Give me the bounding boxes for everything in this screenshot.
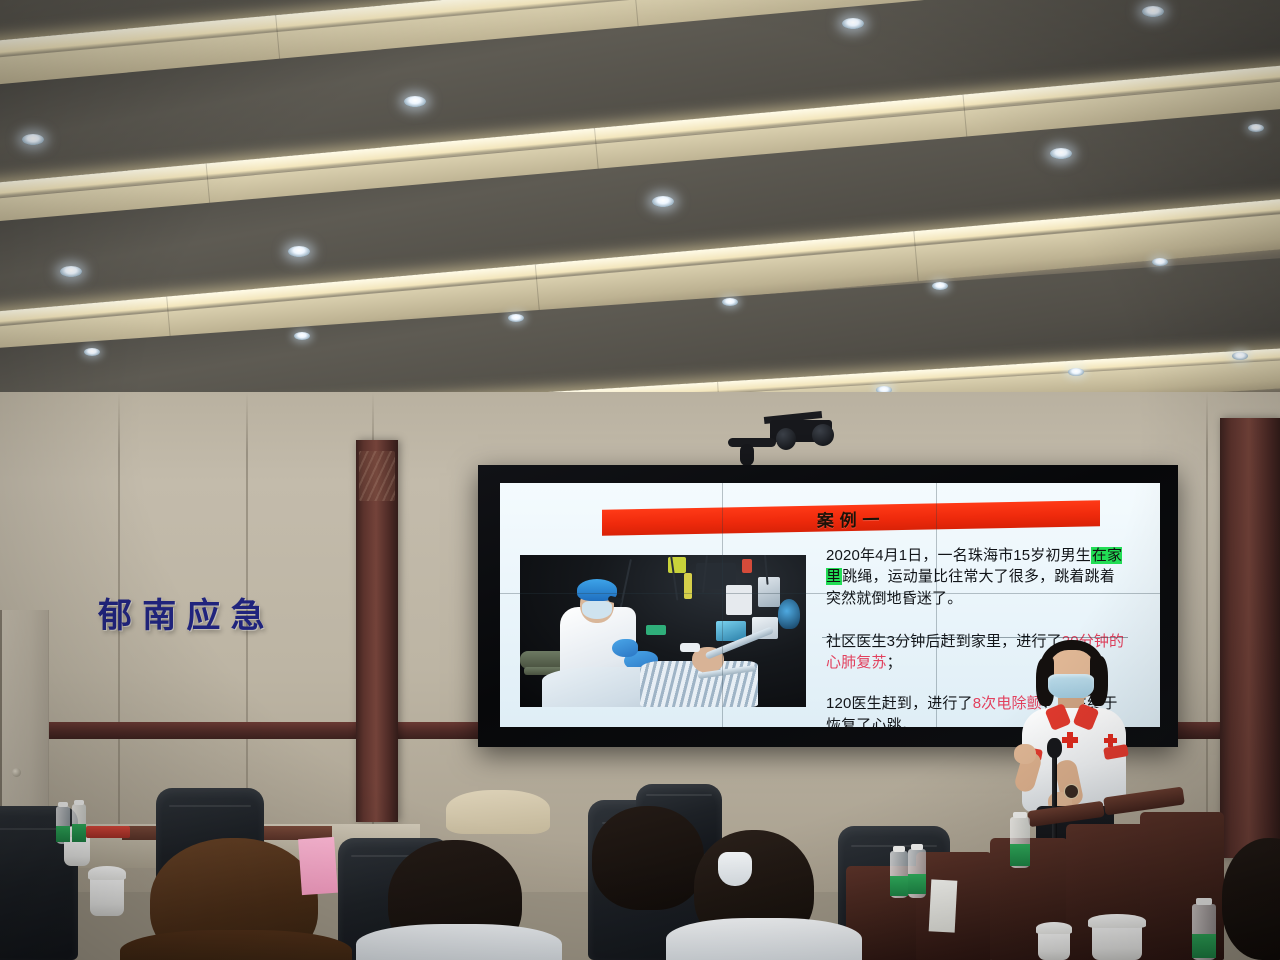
- ceiling-projector-rig: [718, 414, 838, 464]
- downlight: [1248, 124, 1264, 132]
- downlight: [842, 18, 864, 29]
- p1-run-2: 初男生: [1045, 547, 1090, 564]
- downlight: [722, 298, 738, 306]
- photo-doctor-glove: [612, 639, 638, 657]
- downlight: [1232, 352, 1248, 360]
- led-panel-seam: [722, 483, 723, 727]
- audience-member-head: [592, 806, 704, 910]
- downlight: [652, 196, 674, 207]
- teacup-lid[interactable]: [1036, 922, 1072, 934]
- pilaster-carving: [359, 451, 394, 501]
- teacup-lid[interactable]: [1088, 914, 1146, 928]
- downlight: [294, 332, 310, 340]
- rig-camera-body: [740, 444, 754, 466]
- p1-run-4: 跳绳，运动量比往常大了很多，跳着跳着突然就倒地昏迷了。: [826, 568, 1115, 606]
- downlight: [288, 246, 310, 257]
- wall-sign-yunan-emergency: 郁南应急: [98, 588, 275, 637]
- rig-lens-icon: [776, 428, 796, 450]
- slide-title-text: 案例一: [817, 505, 885, 531]
- p2-run-3: ；: [887, 654, 902, 671]
- downlight: [508, 314, 524, 322]
- presenter-face-mask: [1048, 674, 1094, 700]
- audience-member-shoulders: [120, 930, 352, 960]
- slide-divider-rule: [822, 637, 1128, 638]
- downlight: [1050, 148, 1072, 159]
- photo-doctor-mask: [582, 601, 612, 619]
- audience-face-mask: [718, 852, 752, 886]
- water-bottle[interactable]: [890, 846, 908, 898]
- slide-title-banner: 案例一: [602, 500, 1100, 536]
- teacup-lid[interactable]: [88, 866, 126, 880]
- microphone-head-icon[interactable]: [1047, 738, 1062, 758]
- downlight: [404, 96, 426, 107]
- water-bottle[interactable]: [72, 800, 86, 844]
- water-bottle[interactable]: [908, 844, 926, 898]
- audience-member-shoulders: [356, 924, 562, 960]
- red-cross-logo: [1062, 732, 1078, 748]
- led-panel-seam: [936, 483, 937, 727]
- white-paper-document[interactable]: [929, 879, 958, 932]
- slide-paragraph-1: 2020年4月1日，一名珠海市15岁初男生在家里跳绳，运动量比往常大了很多，跳着…: [826, 545, 1126, 609]
- wall-sign-text: 郁南应急: [98, 597, 275, 635]
- led-panel-seam: [500, 593, 1160, 594]
- downlight: [1068, 368, 1084, 376]
- downlight: [932, 282, 948, 290]
- audience-member-head: [446, 790, 550, 834]
- audience-member-shoulders: [666, 918, 862, 960]
- downlight: [22, 134, 44, 145]
- water-bottle[interactable]: [56, 802, 70, 844]
- presenter-wristwatch: [1064, 784, 1079, 799]
- wall-pilaster-right: [1220, 418, 1280, 858]
- rig-lens-icon: [812, 424, 834, 446]
- wall-pilaster-left: [356, 440, 398, 822]
- teacup[interactable]: [1038, 930, 1070, 960]
- downlight: [1152, 258, 1168, 266]
- door-knob-icon[interactable]: [12, 768, 21, 777]
- red-item-on-table: [86, 826, 130, 838]
- p3-run-1: 120医生赶到，进行了: [826, 695, 973, 712]
- downlight: [60, 266, 82, 277]
- presenter-left-hand: [1014, 744, 1036, 764]
- slide-photo-icu: [520, 555, 806, 707]
- water-bottle[interactable]: [1192, 898, 1216, 960]
- water-bottle[interactable]: [1010, 812, 1030, 868]
- downlight: [84, 348, 100, 356]
- downlight: [1142, 6, 1164, 17]
- pink-paper-document[interactable]: [298, 837, 338, 895]
- presentation-room-photo: 郁南应急 案例一: [0, 0, 1280, 960]
- red-cross-logo-sleeve: [1104, 734, 1117, 747]
- teacup[interactable]: [90, 876, 124, 916]
